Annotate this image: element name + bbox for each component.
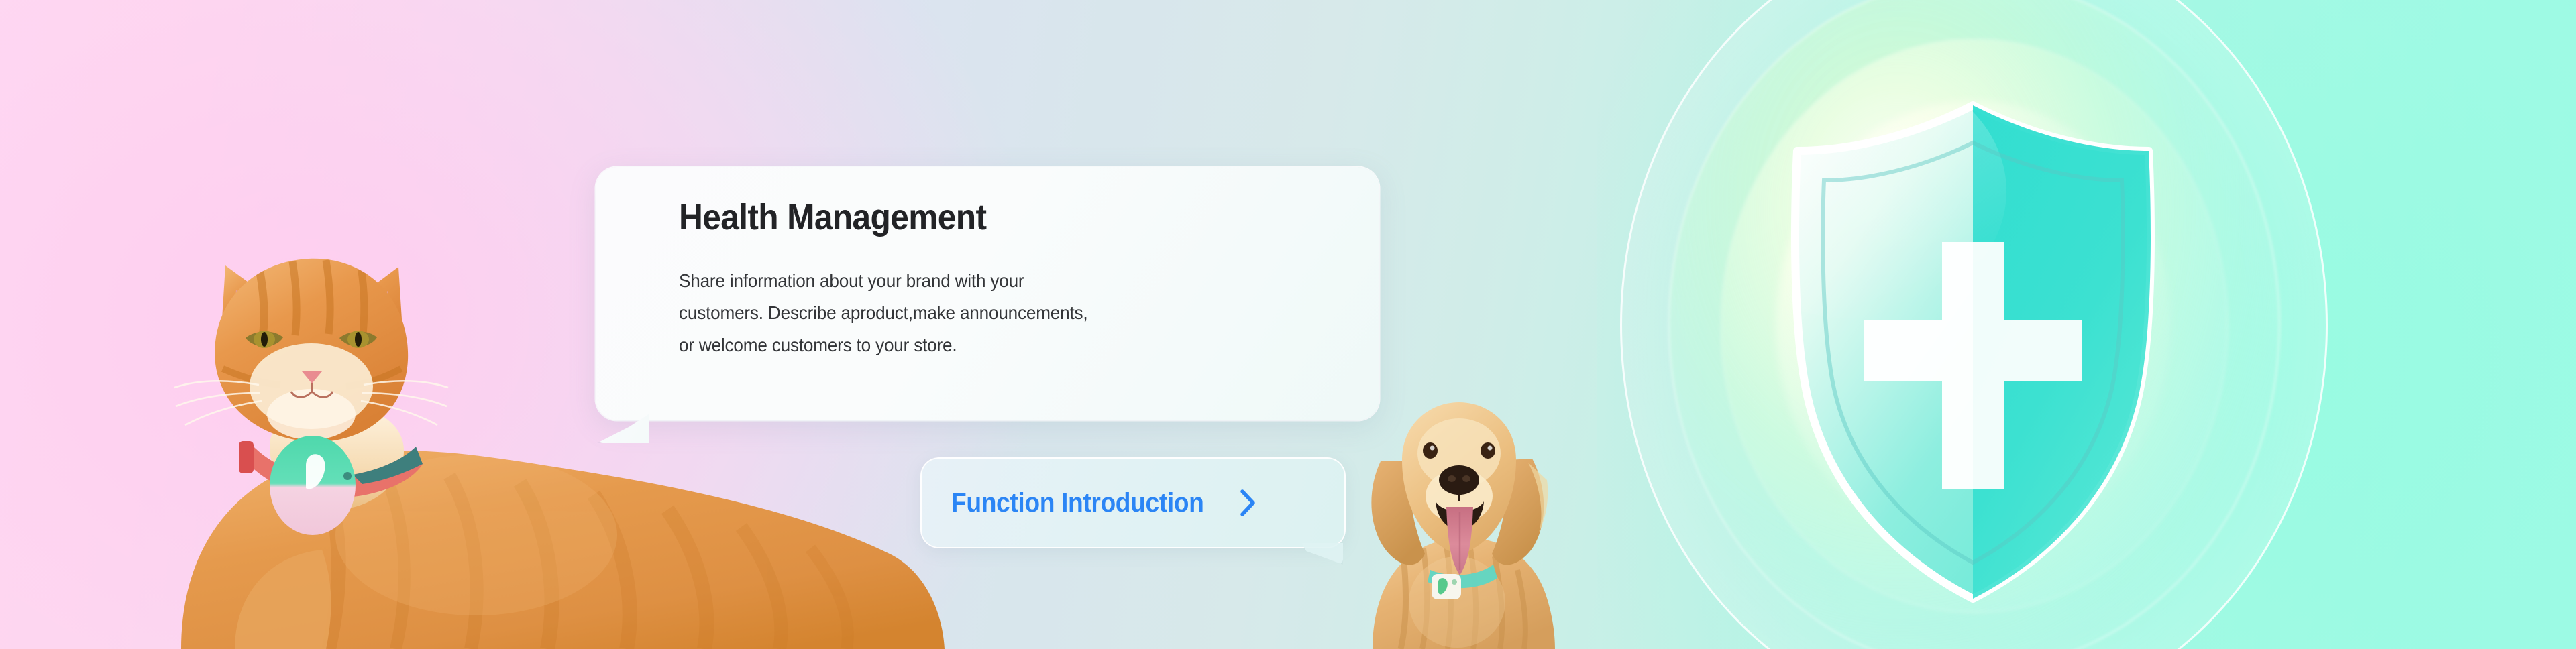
chevron-right-icon	[1238, 488, 1258, 518]
card-description-line-1: Share information about your brand with …	[679, 265, 1319, 297]
card-description-line-3: or welcome customers to your store.	[679, 329, 1319, 361]
card-description: Share information about your brand with …	[679, 265, 1319, 361]
card-description-line-2: customers. Describe aproduct,make announ…	[679, 297, 1319, 329]
page-title: Health Management	[679, 196, 1299, 238]
info-card: Health Management Share information abou…	[596, 167, 1379, 420]
health-management-banner: Health Management Share information abou…	[0, 0, 2576, 649]
function-introduction-label: Function Introduction	[951, 488, 1204, 518]
function-introduction-button[interactable]: Function Introduction	[922, 459, 1344, 547]
